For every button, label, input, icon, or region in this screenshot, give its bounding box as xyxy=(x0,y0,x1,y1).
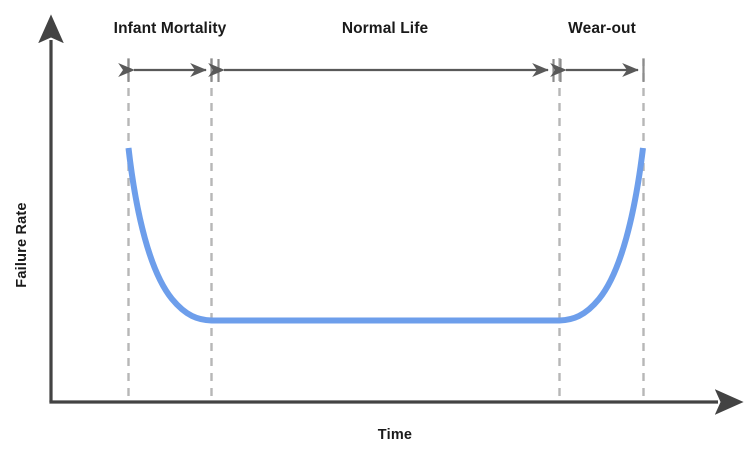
region-label-infant-mortality: Infant Mortality xyxy=(114,20,227,38)
bathtub-curve-figure xyxy=(0,0,744,455)
chart-canvas: Infant Mortality Normal Life Wear-out Ti… xyxy=(0,0,744,455)
x-axis-title: Time xyxy=(378,427,412,443)
y-axis-title: Failure Rate xyxy=(14,202,30,287)
region-dividers-group xyxy=(129,58,644,401)
axes-group xyxy=(49,40,718,402)
region-span-arrows-group xyxy=(129,59,644,82)
region-label-normal-life: Normal Life xyxy=(342,20,428,38)
failure-rate-curve xyxy=(129,148,644,321)
region-label-wear-out: Wear-out xyxy=(568,20,636,38)
